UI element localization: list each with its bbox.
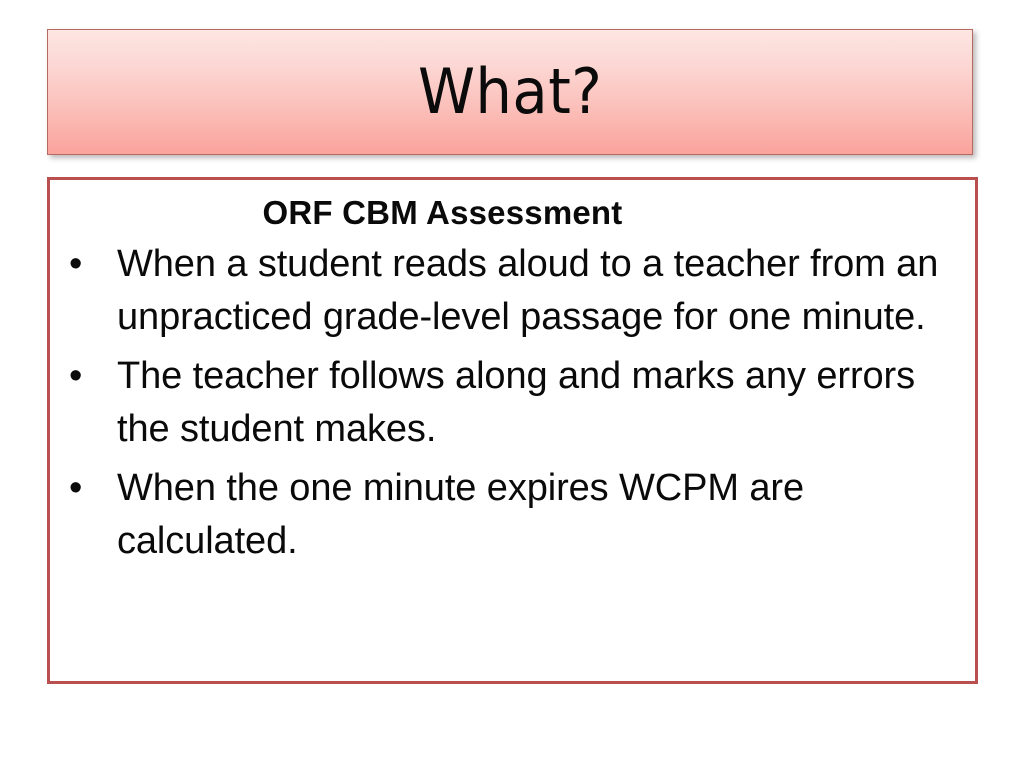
list-item: • When the one minute expires WCPM are c… (68, 462, 957, 568)
slide-title-box: What? (47, 29, 973, 155)
page-title: What? (418, 61, 602, 123)
list-item: • The teacher follows along and marks an… (68, 350, 957, 456)
content-heading: ORF CBM Assessment (68, 192, 957, 234)
slide-content-box: ORF CBM Assessment • When a student read… (47, 177, 978, 684)
list-item: • When a student reads aloud to a teache… (68, 238, 957, 344)
list-item-text: When a student reads aloud to a teacher … (117, 238, 957, 344)
bullet-point-icon: • (69, 350, 99, 403)
list-item-text: The teacher follows along and marks any … (117, 350, 957, 456)
slide-canvas: What? ORF CBM Assessment • When a studen… (0, 0, 1024, 768)
bullet-point-icon: • (69, 462, 99, 515)
list-item-text: When the one minute expires WCPM are cal… (117, 462, 957, 568)
bullet-point-icon: • (69, 238, 99, 291)
bullet-list: • When a student reads aloud to a teache… (68, 238, 957, 568)
